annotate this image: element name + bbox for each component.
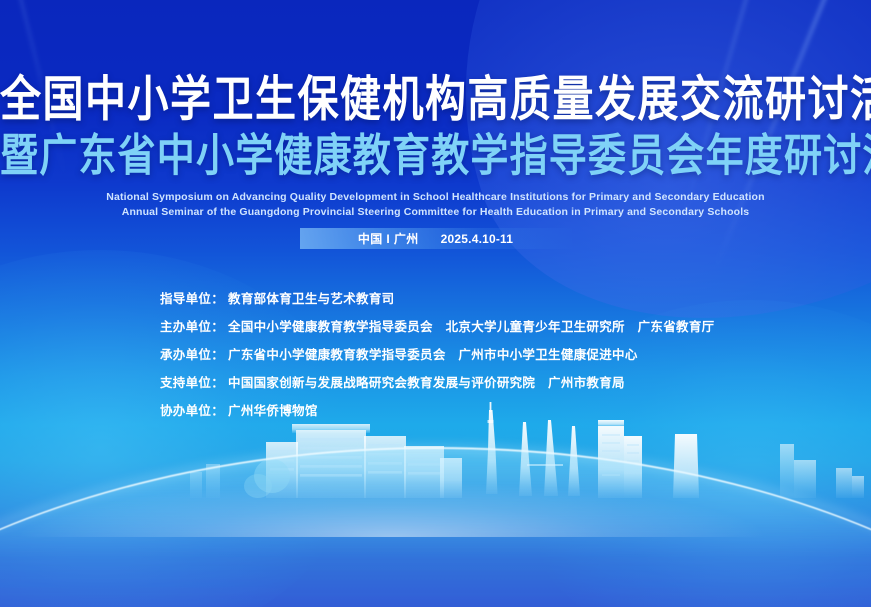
organizer-row-organizer: 承办单位： 广东省中小学健康教育教学指导委员会 广州市中小学卫生健康促进中心	[160, 344, 800, 363]
ground-haze	[0, 467, 871, 537]
organizer-label: 支持单位：	[160, 372, 224, 391]
organizer-label: 承办单位：	[160, 344, 224, 363]
organizer-row-guidance: 指导单位： 教育部体育卫生与艺术教育司	[160, 288, 800, 307]
organizer-label: 主办单位：	[160, 316, 224, 335]
skyline-building-complex	[244, 424, 462, 498]
badge-date: 2025.4.10-11	[441, 232, 513, 246]
horizon-arc-line	[0, 447, 871, 607]
skyline-far-left-buildings	[190, 464, 220, 498]
headline-block: 全国中小学卫生保健机构高质量发展交流研讨活动 暨广东省中小学健康教育教学指导委员…	[0, 0, 871, 220]
date-location-badge: 中国 I 广州 2025.4.10-11	[300, 228, 572, 249]
skyline-block-tower	[673, 434, 699, 498]
organizer-value: 全国中小学健康教育教学指导委员会 北京大学儿童青少年卫生研究所 广东省教育厅	[228, 316, 714, 335]
date-badge-container: 中国 I 广州 2025.4.10-11	[0, 228, 871, 249]
organizer-value: 广东省中小学健康教育教学指导委员会 广州市中小学卫生健康促进中心	[228, 344, 638, 363]
poster-title-line-1: 全国中小学卫生保健机构高质量发展交流研讨活动	[0, 72, 871, 126]
organizer-value: 教育部体育卫生与艺术教育司	[228, 288, 394, 307]
conference-poster: 全国中小学卫生保健机构高质量发展交流研讨活动 暨广东省中小学健康教育教学指导委员…	[0, 0, 871, 607]
skyline-twin-towers	[519, 420, 580, 496]
badge-location: 中国 I 广州	[358, 230, 419, 247]
organizer-label: 协办单位：	[160, 400, 224, 419]
poster-subtitle-english-line-2: Annual Seminar of the Guangdong Provinci…	[0, 205, 871, 220]
poster-title-line-2: 暨广东省中小学健康教育教学指导委员会年度研讨活动	[0, 132, 871, 181]
organizer-value: 广州华侨博物馆	[228, 400, 318, 419]
organizer-label: 指导单位：	[160, 288, 224, 307]
organizer-list: 指导单位： 教育部体育卫生与艺术教育司 主办单位： 全国中小学健康教育教学指导委…	[160, 288, 800, 428]
horizon-arc-glow	[0, 445, 871, 607]
poster-subtitle-english: National Symposium on Advancing Quality …	[0, 190, 871, 220]
organizer-row-coorganizer: 协办单位： 广州华侨博物馆	[160, 400, 800, 419]
skyline-far-right-buildings	[780, 444, 864, 498]
skyline-business-tower	[598, 420, 642, 498]
organizer-row-host: 主办单位： 全国中小学健康教育教学指导委员会 北京大学儿童青少年卫生研究所 广东…	[160, 316, 800, 335]
poster-subtitle-english-line-1: National Symposium on Advancing Quality …	[0, 190, 871, 205]
organizer-row-supporter: 支持单位： 中国国家创新与发展战略研究会教育发展与评价研究院 广州市教育局	[160, 372, 800, 391]
organizer-value: 中国国家创新与发展战略研究会教育发展与评价研究院 广州市教育局	[228, 372, 625, 391]
